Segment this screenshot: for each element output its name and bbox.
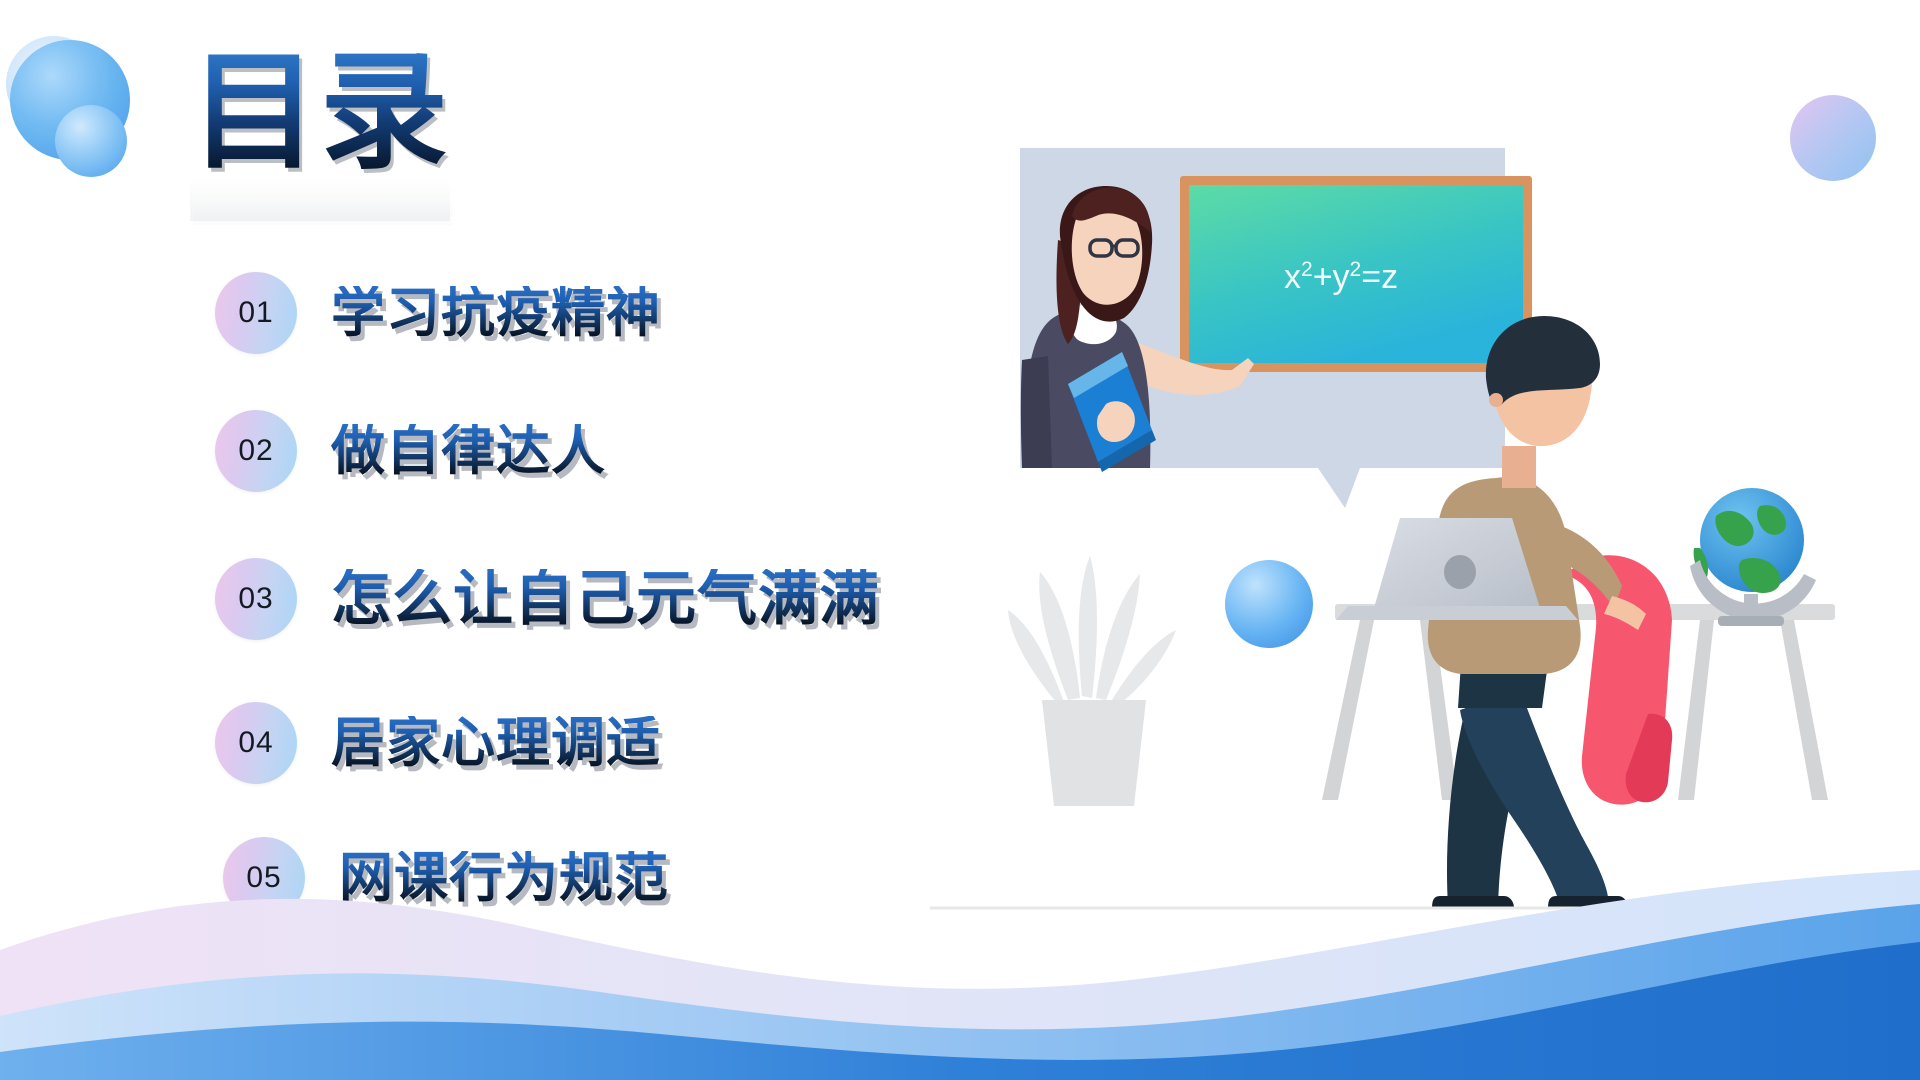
blob-top-right-icon xyxy=(1790,95,1876,181)
toc-item-04[interactable]: 04 居家心理调适 xyxy=(215,695,661,791)
book-icon xyxy=(1068,352,1156,472)
teacher-speech-bubble xyxy=(1020,148,1505,508)
toc-bullet-03: 03 xyxy=(215,558,297,640)
toc-bullet-01: 01 xyxy=(215,272,297,354)
blob-top-left-small-icon xyxy=(55,105,127,177)
desk xyxy=(1322,604,1835,800)
toc-number-01: 01 xyxy=(238,296,273,330)
chair xyxy=(1562,555,1672,804)
blob-center-icon xyxy=(1225,560,1313,648)
toc-label-03: 怎么让自己元气满满 xyxy=(331,569,880,629)
toc-number-03: 03 xyxy=(238,582,273,616)
teacher-figure xyxy=(1021,186,1254,472)
laptop xyxy=(1336,518,1578,620)
toc-item-01[interactable]: 01 学习抗疫精神 xyxy=(215,265,661,361)
toc-label-01: 学习抗疫精神 xyxy=(331,286,661,340)
blob-top-left-ring-icon xyxy=(6,36,102,132)
student-figure xyxy=(1428,316,1646,908)
toc-bullet-04: 04 xyxy=(215,702,297,784)
desk-globe xyxy=(1690,488,1816,626)
bottom-wave-decoration xyxy=(0,830,1920,1080)
toc-item-02[interactable]: 02 做自律达人 xyxy=(215,403,606,499)
slide-canvas: 目录 01 学习抗疫精神 02 做自律达人 03 怎么让自己元气满满 04 居家… xyxy=(0,0,1920,1080)
page-title: 目录 xyxy=(190,48,450,179)
toc-item-03[interactable]: 03 怎么让自己元气满满 xyxy=(215,551,880,647)
toc-label-04: 居家心理调适 xyxy=(331,716,661,770)
blackboard: x2+y2=z xyxy=(1180,176,1532,372)
toc-bullet-02: 02 xyxy=(215,410,297,492)
blob-top-left-icon xyxy=(10,40,130,160)
toc-number-02: 02 xyxy=(238,434,273,468)
blackboard-formula: x2+y2=z xyxy=(1284,258,1398,296)
toc-label-02: 做自律达人 xyxy=(331,424,606,478)
glasses-icon xyxy=(1090,240,1138,256)
toc-number-04: 04 xyxy=(238,726,273,760)
potted-plant xyxy=(1008,556,1176,806)
